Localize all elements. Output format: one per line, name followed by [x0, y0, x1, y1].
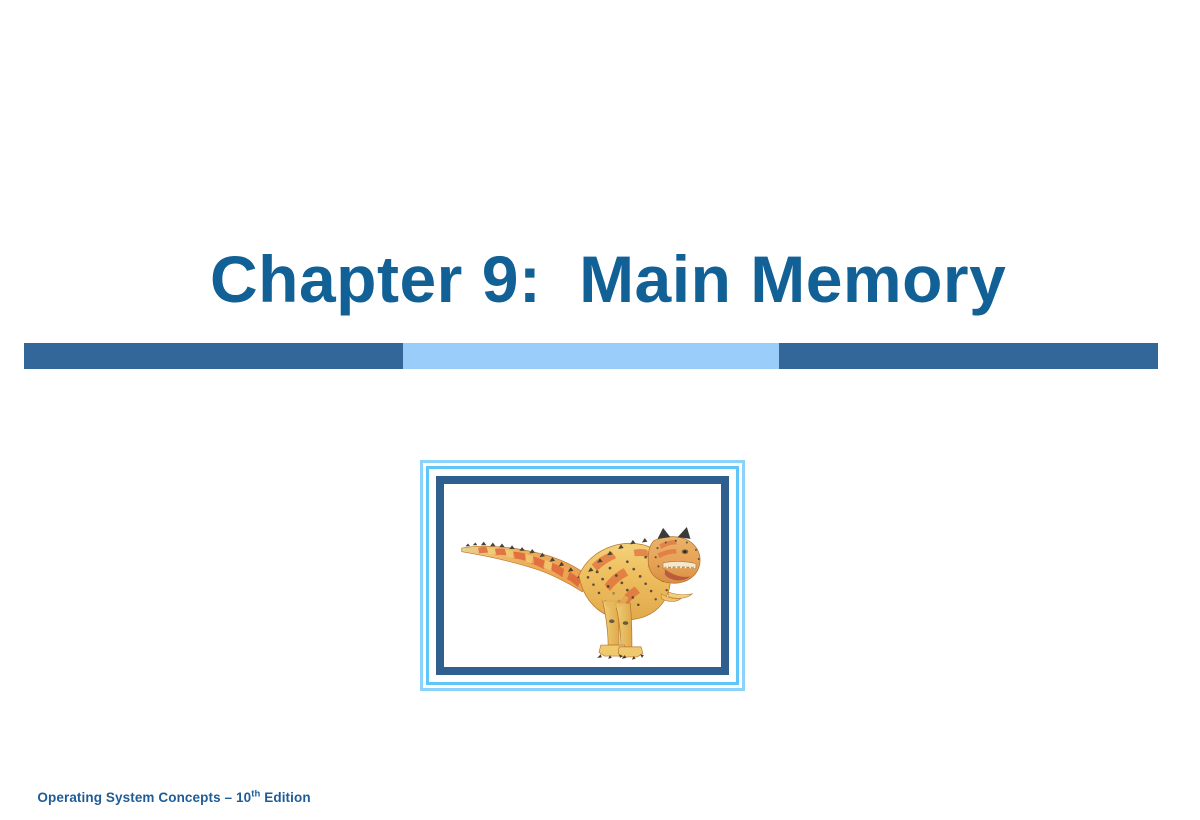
picture-frame-inner-ring: [426, 466, 739, 685]
dinosaur-image: [444, 484, 721, 667]
picture-frame-navy-border: [436, 476, 729, 675]
divider-segment-right: [779, 343, 1158, 369]
divider-segment-middle: [403, 343, 779, 369]
footer-text: Operating System Concepts – 10th Edition: [22, 775, 311, 820]
divider-bar: [24, 343, 1158, 369]
dinosaur-illustration-icon: [444, 484, 721, 667]
slide: Chapter 9: Main Memory: [0, 0, 1200, 800]
footer-text-main: Operating System Concepts – 10: [37, 790, 251, 805]
picture-frame: [420, 460, 745, 691]
footer-text-tail: Edition: [260, 790, 310, 805]
page-title: Chapter 9: Main Memory: [210, 246, 1050, 312]
divider-segment-left: [24, 343, 403, 369]
